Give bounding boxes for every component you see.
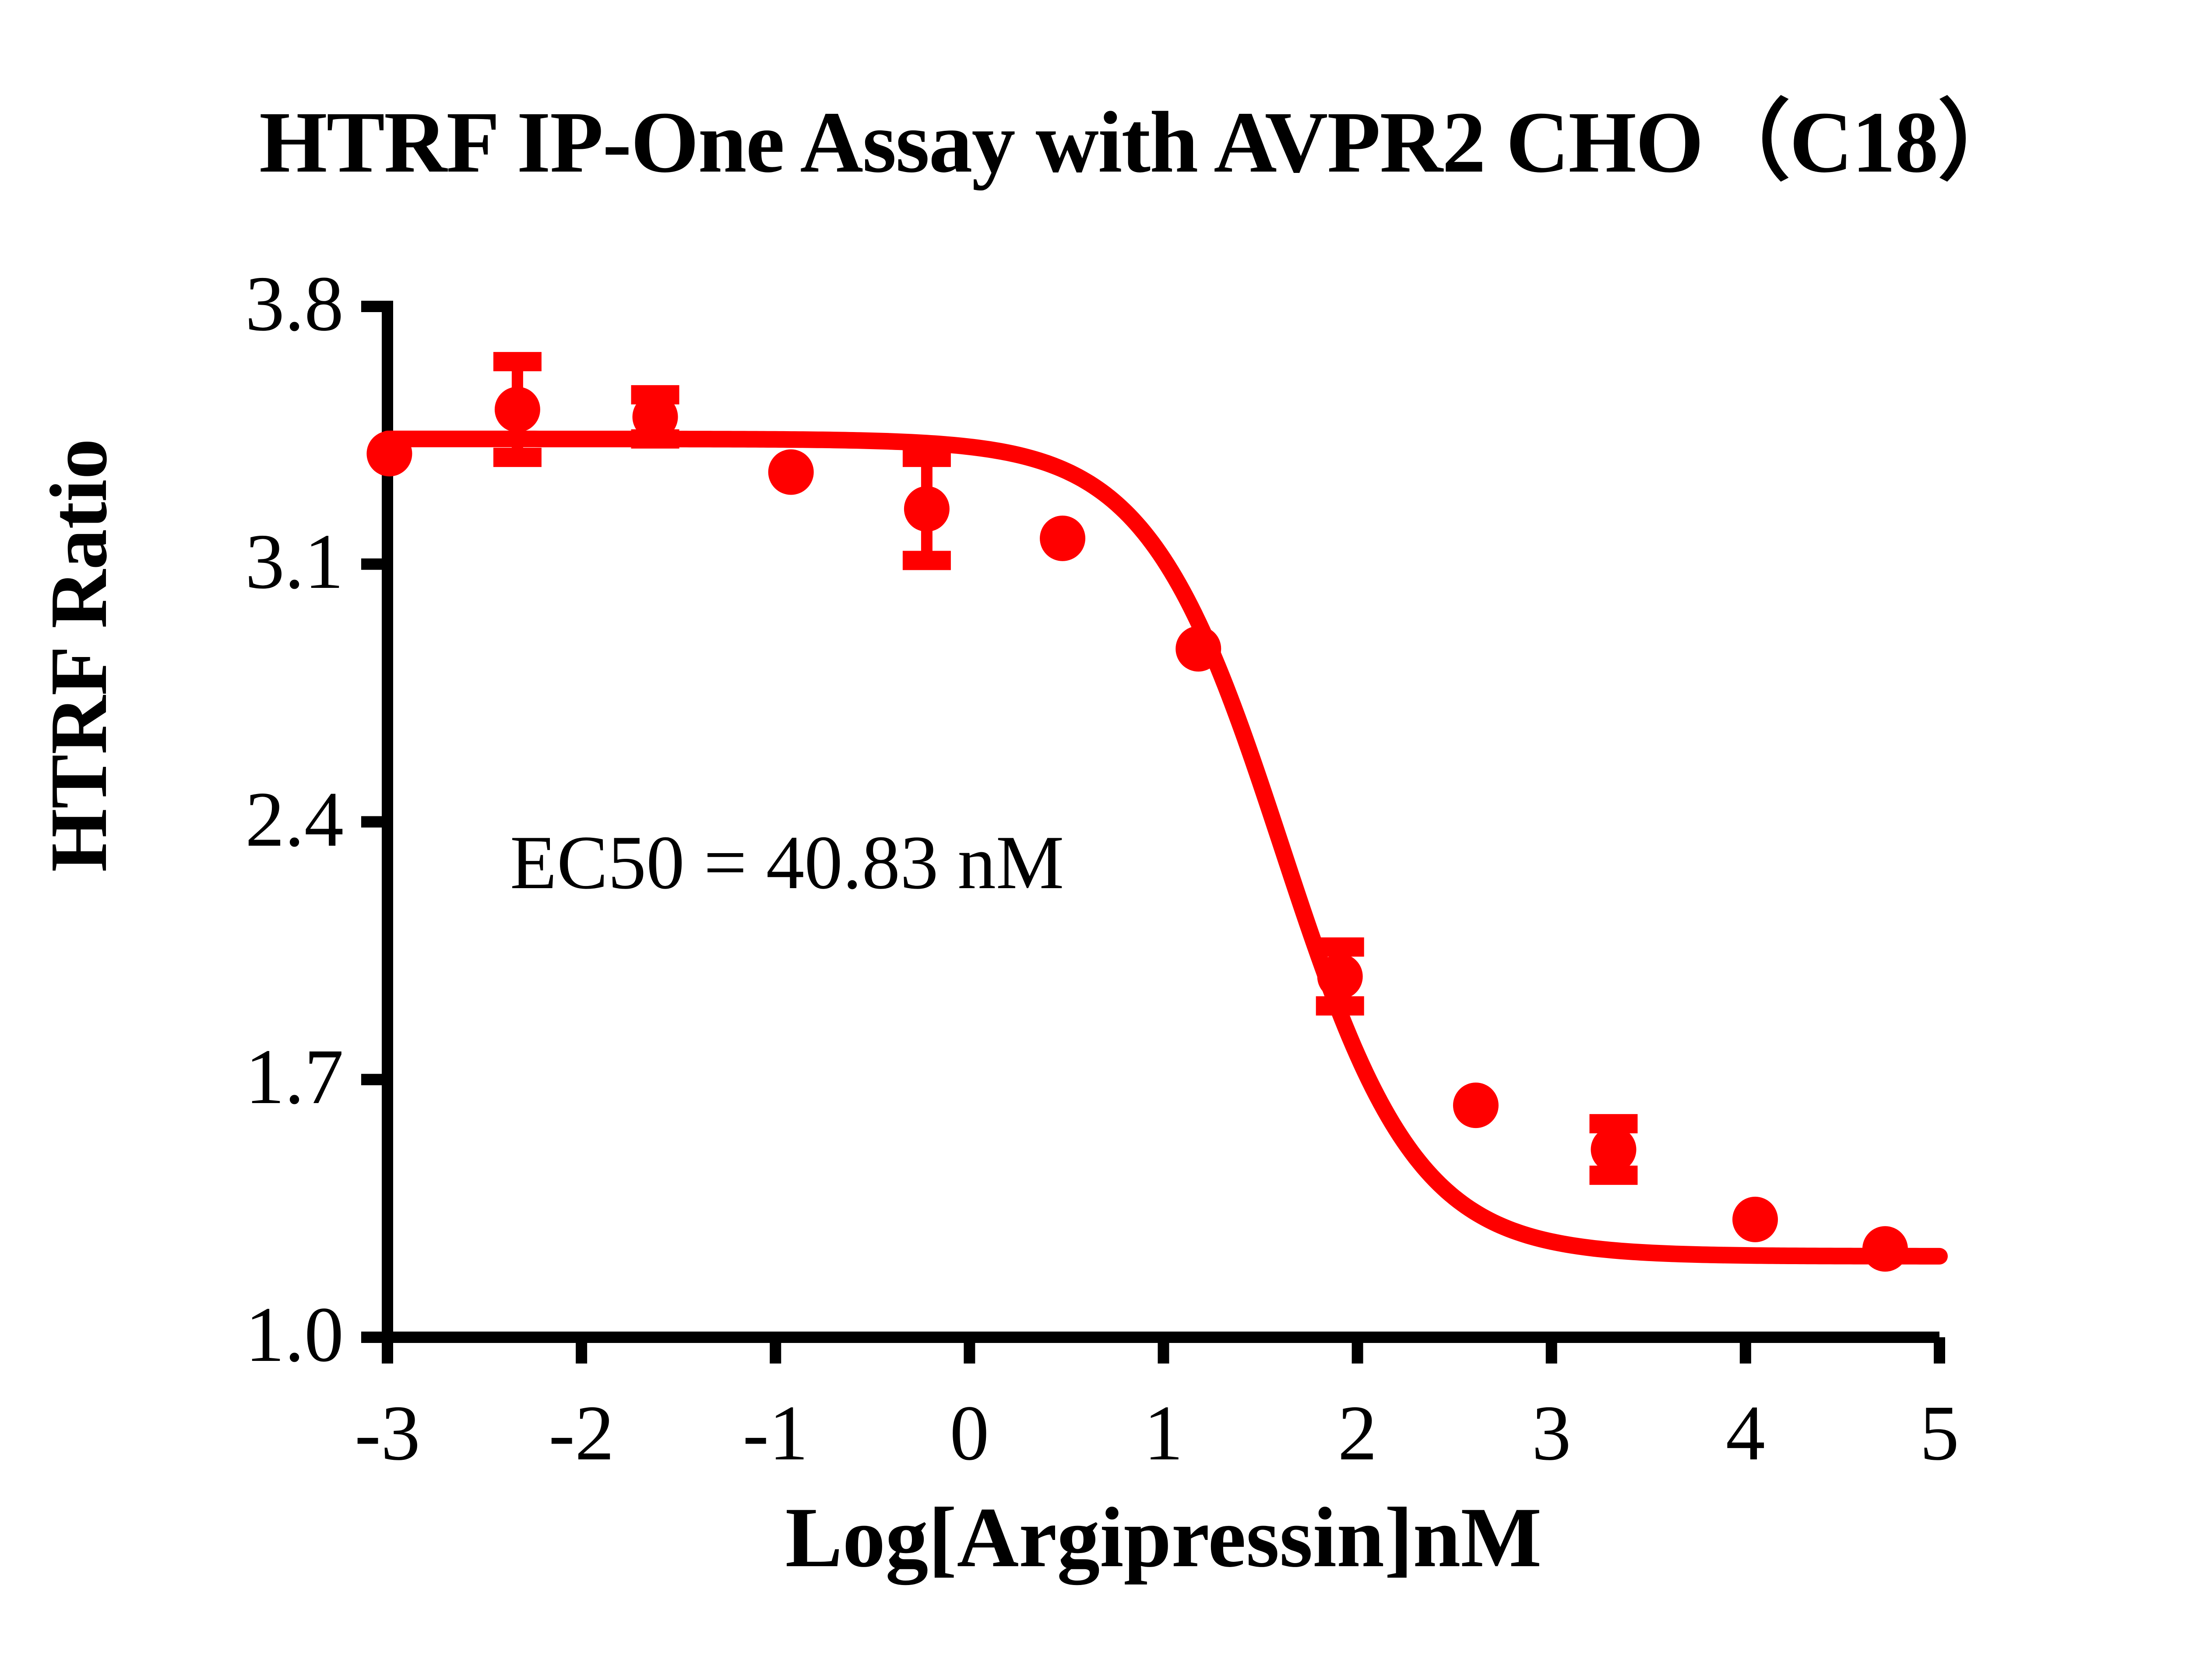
data-point-marker: [1453, 1083, 1499, 1128]
y-axis-tick-label: 1.7: [81, 1031, 344, 1122]
axes: [361, 301, 1939, 1364]
fit-curve-path: [387, 439, 1939, 1256]
data-point-marker: [904, 486, 950, 532]
fit-curve: [387, 439, 1939, 1256]
y-axis-tick-label: 3.1: [81, 516, 344, 607]
data-point-marker: [768, 449, 814, 495]
data-points: [366, 362, 1907, 1272]
x-axis-tick-label: 4: [1680, 1388, 1811, 1478]
x-axis-tick-label: 2: [1292, 1388, 1423, 1478]
data-point-marker: [1175, 626, 1221, 671]
data-point-marker: [1732, 1197, 1778, 1242]
data-point-marker: [1317, 954, 1363, 999]
x-axis-tick-label: -3: [322, 1388, 453, 1478]
y-axis-tick-label: 3.8: [81, 258, 344, 349]
data-point-marker: [633, 394, 678, 439]
x-axis-tick-label: -2: [516, 1388, 647, 1478]
data-point-marker: [366, 431, 412, 476]
x-axis-tick-label: 5: [1874, 1388, 2005, 1478]
data-point-marker: [1040, 516, 1085, 561]
x-axis-tick-label: -1: [710, 1388, 841, 1478]
y-axis-tick-label: 1.0: [81, 1289, 344, 1380]
data-point-marker: [1862, 1226, 1908, 1272]
data-point-marker: [1591, 1127, 1636, 1172]
y-axis-tick-label: 2.4: [81, 774, 344, 865]
x-axis-tick-label: 1: [1098, 1388, 1229, 1478]
data-point-marker: [495, 387, 540, 432]
x-axis-tick-label: 0: [904, 1388, 1035, 1478]
chart-figure: HTRF IP-One Assay with AVPR2 CHO（C18） HT…: [0, 0, 2189, 1680]
x-axis-tick-label: 3: [1486, 1388, 1617, 1478]
